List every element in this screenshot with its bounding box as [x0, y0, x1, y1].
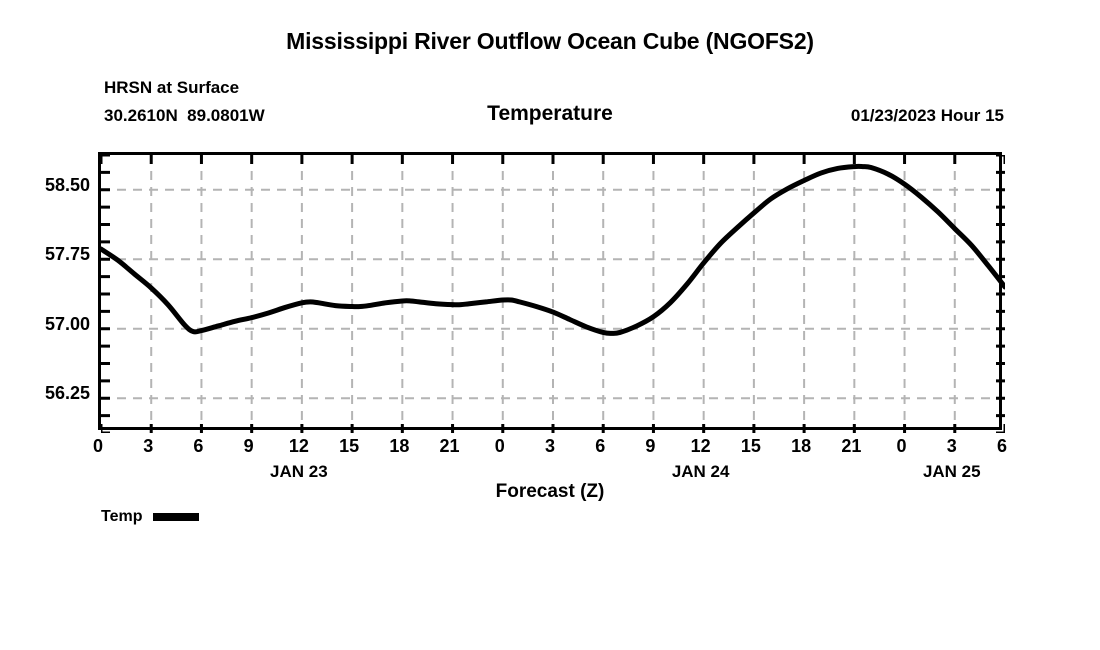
- page-title-top: Mississippi River Outflow Ocean Cube (NG…: [0, 28, 1100, 55]
- x-tick-label: 21: [831, 436, 871, 457]
- chart-page: Mississippi River Outflow Ocean Cube (NG…: [0, 0, 1100, 650]
- y-tick-label: 56.25: [0, 383, 90, 404]
- x-tick-label: 18: [379, 436, 419, 457]
- station-name: HRSN at Surface: [104, 78, 239, 98]
- x-tick-label: 21: [430, 436, 470, 457]
- x-tick-label: 15: [731, 436, 771, 457]
- y-tick-label: 58.50: [0, 175, 90, 196]
- x-tick-label: 6: [580, 436, 620, 457]
- day-band-label: JAN 23: [219, 462, 379, 482]
- y-tick-label: 57.75: [0, 244, 90, 265]
- x-tick-label: 0: [78, 436, 118, 457]
- x-tick-label: 6: [178, 436, 218, 457]
- x-tick-label: 12: [279, 436, 319, 457]
- x-tick-label: 15: [329, 436, 369, 457]
- day-band-label: JAN 24: [621, 462, 781, 482]
- x-tick-label: 9: [630, 436, 670, 457]
- x-tick-label: 0: [480, 436, 520, 457]
- x-tick-label: 3: [128, 436, 168, 457]
- x-tick-label: 3: [530, 436, 570, 457]
- chart-canvas: [101, 155, 1005, 433]
- x-tick-label: 0: [882, 436, 922, 457]
- x-tick-label: 12: [681, 436, 721, 457]
- legend-swatch-temp: [153, 513, 199, 521]
- x-axis-ticks: [101, 155, 1005, 433]
- x-tick-label: 3: [932, 436, 972, 457]
- y-tick-label: 57.00: [0, 314, 90, 335]
- legend-label-temp: Temp: [101, 508, 142, 526]
- x-tick-label: 18: [781, 436, 821, 457]
- x-tick-label: 9: [229, 436, 269, 457]
- plot-area: [98, 152, 1002, 430]
- x-tick-label: 6: [982, 436, 1022, 457]
- model-run-stamp: 01/23/2023 Hour 15: [851, 106, 1004, 126]
- y-axis-ticks: [101, 155, 1005, 433]
- day-band-label: JAN 25: [872, 462, 1032, 482]
- legend: Temp: [101, 508, 199, 526]
- x-axis-title: Forecast (Z): [0, 481, 1100, 503]
- vertical-gridlines: [151, 155, 955, 433]
